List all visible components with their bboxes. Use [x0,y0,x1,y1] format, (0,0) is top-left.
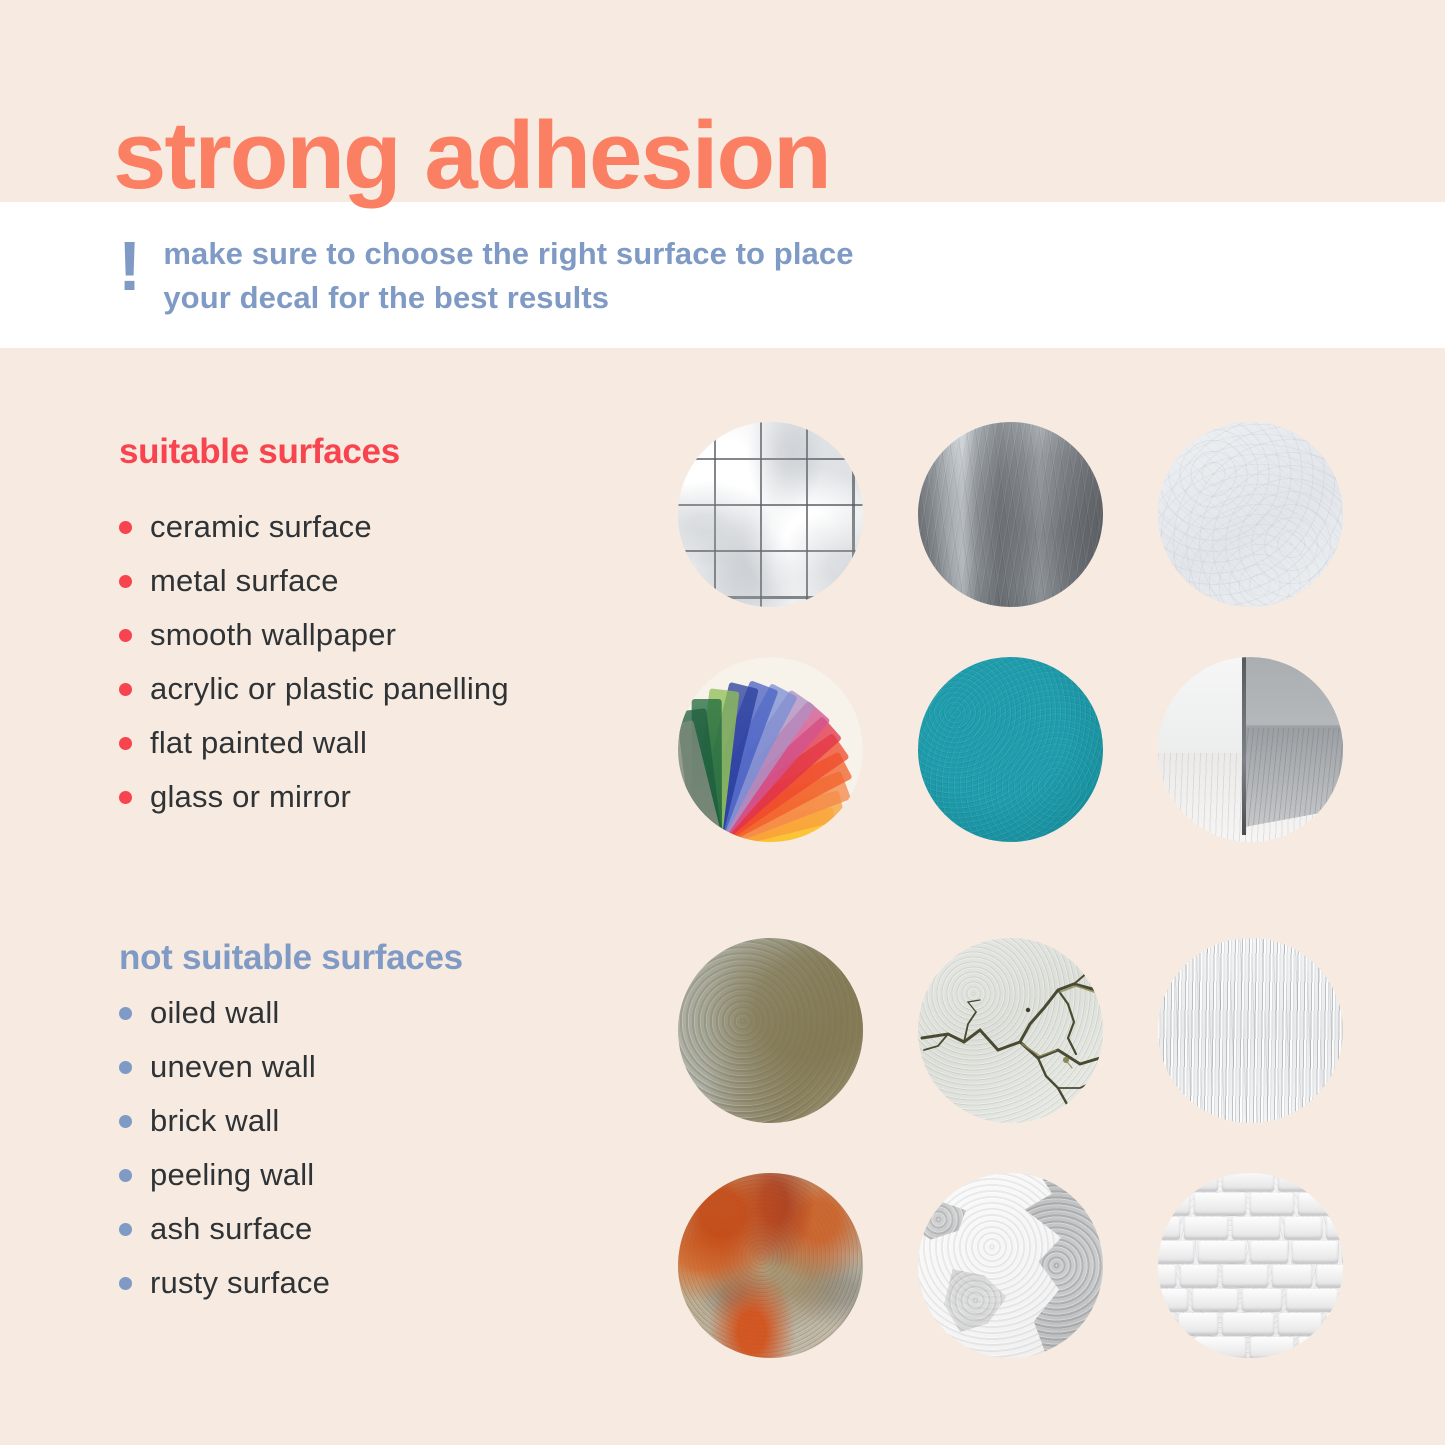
teal-painted-wall-swatch [918,657,1103,842]
list-item-label: ceramic surface [150,509,372,545]
bullet-icon [119,1169,132,1182]
brick-course [1158,1193,1343,1219]
peeling-wall-swatch [918,1173,1103,1358]
bullet-icon [119,1061,132,1074]
bullet-icon [119,683,132,696]
acrylic-panels-swatch [678,657,863,842]
list-item-label: brick wall [150,1103,279,1139]
list-item: brick wall [119,1094,330,1148]
bullet-icon [119,1007,132,1020]
subtitle-line-2: your decal for the best results [163,276,853,320]
bullet-icon [119,1277,132,1290]
brick-course [1158,1337,1343,1358]
list-item: metal surface [119,554,509,608]
brick-course [1158,1217,1343,1243]
list-item-label: acrylic or plastic panelling [150,671,509,707]
list-item: oiled wall [119,986,330,1040]
list-item-label: rusty surface [150,1265,330,1301]
not-suitable-surfaces-list: oiled wall uneven wall brick wall peelin… [119,986,330,1310]
suitable-surface-swatch-grid [678,422,1343,842]
brick-wall-swatch [1158,1173,1343,1358]
brick-course [1158,1289,1343,1315]
list-item: peeling wall [119,1148,330,1202]
list-item: glass or mirror [119,770,509,824]
exclamation-icon: ! [118,234,141,298]
textured-plaster-swatch [1158,938,1343,1123]
list-item-label: peeling wall [150,1157,314,1193]
list-item: uneven wall [119,1040,330,1094]
brushed-metal-swatch [918,422,1103,607]
cracked-wall-swatch [918,938,1103,1123]
subtitle-line-1: make sure to choose the right surface to… [163,232,853,276]
subtitle-text: make sure to choose the right surface to… [163,232,853,320]
not-suitable-surface-swatch-grid [678,938,1343,1358]
page-title: strong adhesion [113,108,830,204]
list-item-label: glass or mirror [150,779,351,815]
suitable-surfaces-list: ceramic surface metal surface smooth wal… [119,500,509,824]
bullet-icon [119,629,132,642]
oiled-wall-swatch [678,938,863,1123]
list-item-label: uneven wall [150,1049,316,1085]
rusty-surface-swatch [678,1173,863,1358]
list-item: rusty surface [119,1256,330,1310]
brick-course [1158,1265,1343,1291]
list-item: smooth wallpaper [119,608,509,662]
smooth-wallpaper-swatch [1158,422,1343,607]
brick-course [1158,1313,1343,1339]
brick-course [1158,1241,1343,1267]
bullet-icon [119,737,132,750]
list-item: flat painted wall [119,716,509,770]
list-item-label: ash surface [150,1211,312,1247]
list-item: acrylic or plastic panelling [119,662,509,716]
subtitle-block: ! make sure to choose the right surface … [118,232,854,320]
mirror-glass-swatch [1158,657,1343,842]
list-item-label: oiled wall [150,995,280,1031]
list-item: ceramic surface [119,500,509,554]
list-item: ash surface [119,1202,330,1256]
suitable-surfaces-heading: suitable surfaces [119,432,400,472]
bullet-icon [119,1223,132,1236]
bullet-icon [119,1115,132,1128]
brick-course [1158,1173,1343,1195]
ceramic-tile-swatch [678,422,863,607]
list-item-label: metal surface [150,563,339,599]
bullet-icon [119,791,132,804]
bullet-icon [119,521,132,534]
not-suitable-surfaces-heading: not suitable surfaces [119,938,463,978]
bullet-icon [119,575,132,588]
list-item-label: smooth wallpaper [150,617,396,653]
list-item-label: flat painted wall [150,725,367,761]
